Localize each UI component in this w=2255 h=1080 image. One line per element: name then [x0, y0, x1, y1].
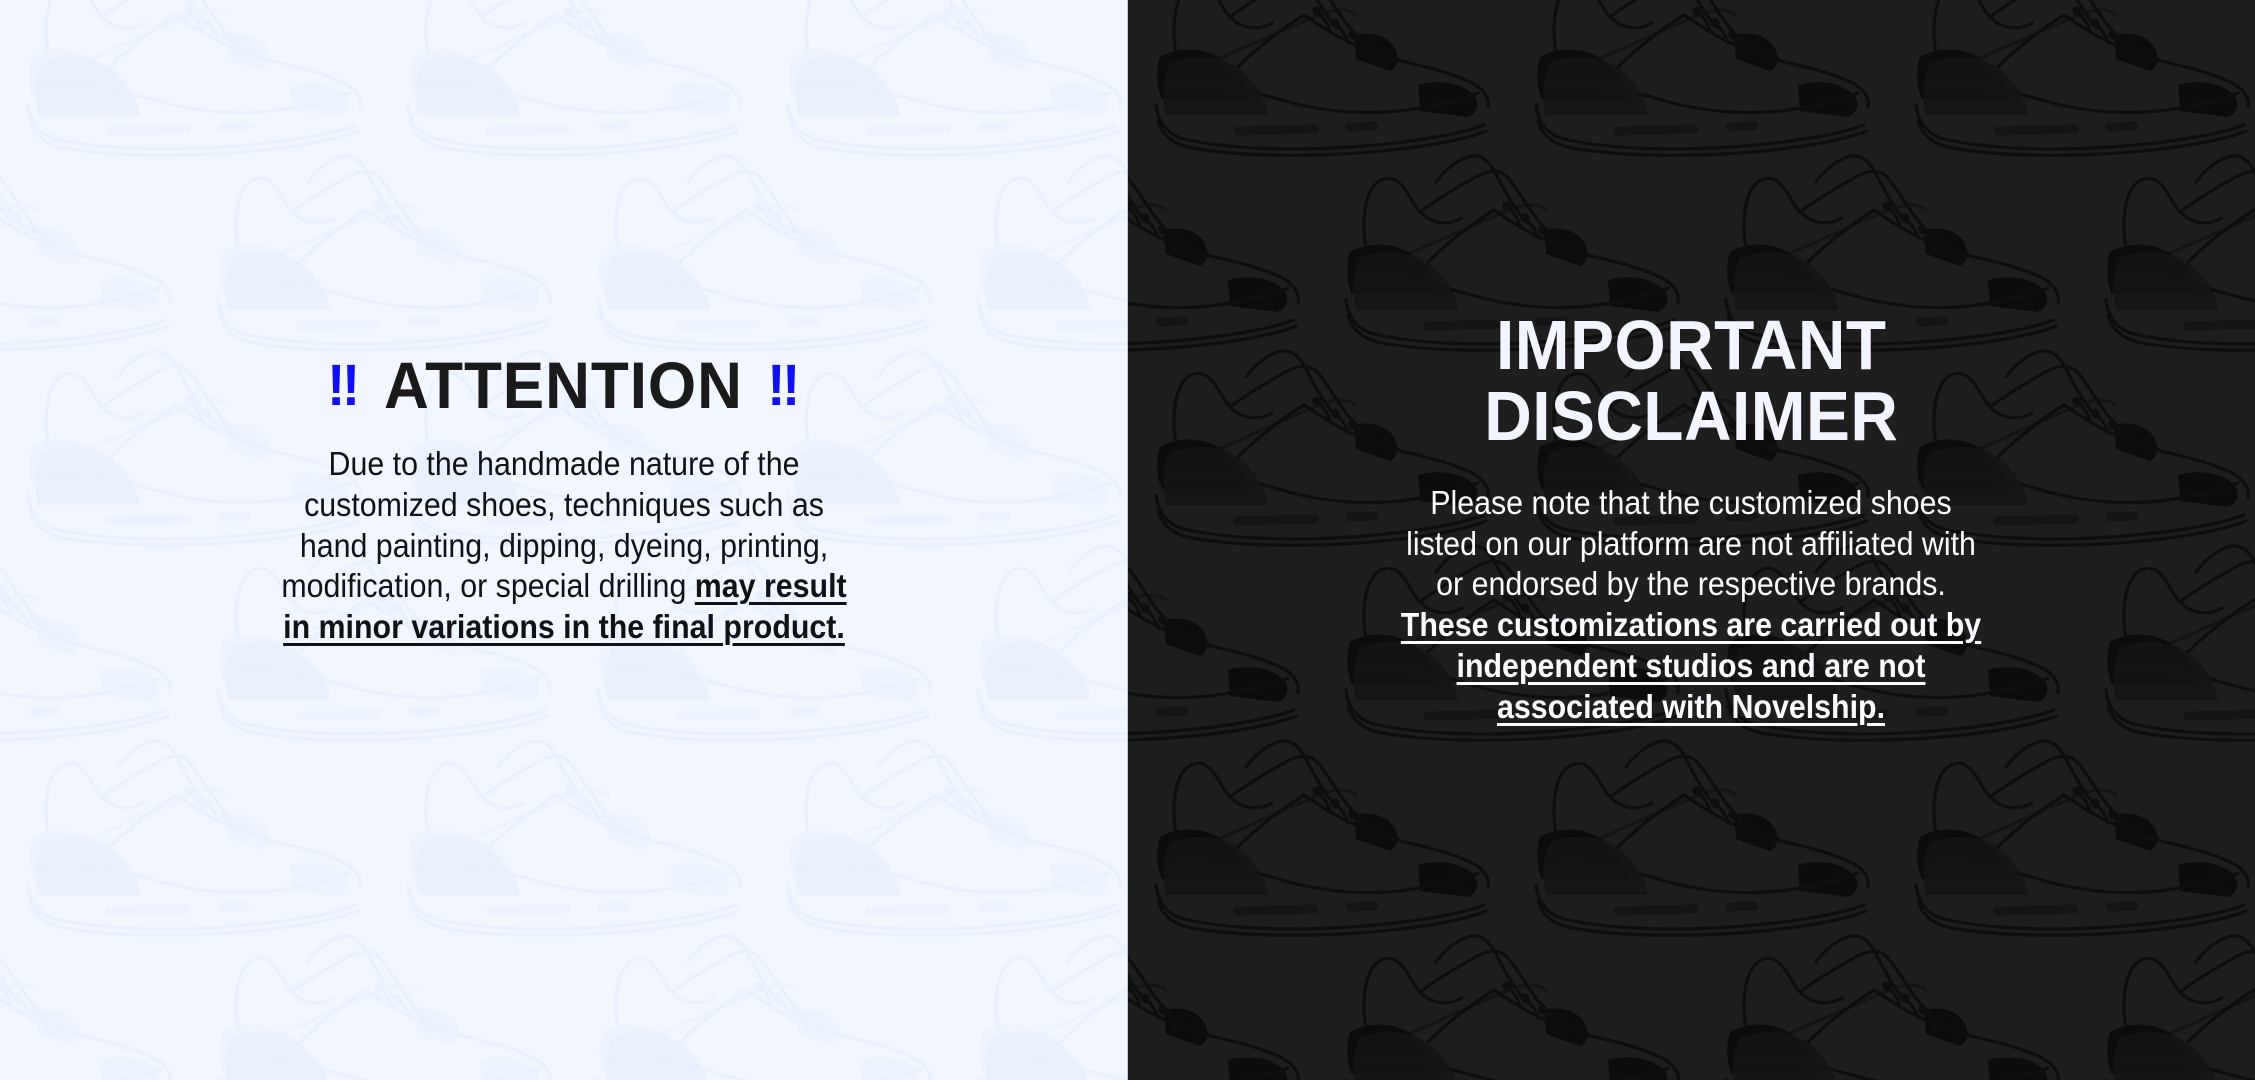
disclaimer-banner: ‼ ATTENTION ‼ Due to the handmade nature…: [0, 0, 2255, 1080]
double-exclamation-icon-right: ‼: [768, 357, 800, 415]
attention-heading-word: ATTENTION: [384, 352, 743, 418]
sneaker-pattern-row: [0, 910, 1128, 1080]
disclaimer-content: IMPORTANT DISCLAIMER Please note that th…: [1128, 0, 2255, 727]
sneaker-icon: [560, 910, 940, 1080]
sneaker-pattern-row: [0, 715, 1128, 951]
sneaker-pattern-row: [1128, 910, 2255, 1080]
disclaimer-heading: IMPORTANT DISCLAIMER: [1484, 310, 1898, 453]
disclaimer-panel: IMPORTANT DISCLAIMER Please note that th…: [1128, 0, 2255, 1080]
attention-body: Due to the handmade nature of the custom…: [279, 444, 849, 648]
attention-panel: ‼ ATTENTION ‼ Due to the handmade nature…: [0, 0, 1128, 1080]
sneaker-icon: [1688, 910, 2068, 1080]
sneaker-icon: [2068, 910, 2255, 1080]
sneaker-icon: [1128, 910, 1308, 1080]
sneaker-icon: [180, 910, 560, 1080]
disclaimer-body-plain: Please note that the customized shoes li…: [1406, 484, 1976, 603]
sneaker-icon: [1308, 910, 1688, 1080]
sneaker-icon: [940, 910, 1128, 1080]
attention-heading: ‼ ATTENTION ‼: [327, 352, 800, 418]
double-exclamation-icon-left: ‼: [327, 357, 359, 415]
sneaker-icon: [0, 715, 370, 951]
sneaker-icon: [1498, 715, 1878, 951]
disclaimer-body-emphasis: These customizations are carried out by …: [1401, 606, 1981, 725]
disclaimer-heading-line-2: DISCLAIMER: [1484, 381, 1898, 452]
disclaimer-body: Please note that the customized shoes li…: [1397, 483, 1986, 728]
sneaker-icon: [0, 910, 180, 1080]
sneaker-icon: [370, 715, 750, 951]
sneaker-icon: [1878, 715, 2255, 951]
sneaker-icon: [750, 715, 1128, 951]
sneaker-pattern-row: [1128, 715, 2255, 951]
disclaimer-heading-line-1: IMPORTANT: [1484, 310, 1898, 381]
sneaker-icon: [1128, 715, 1498, 951]
attention-content: ‼ ATTENTION ‼ Due to the handmade nature…: [0, 0, 1128, 648]
